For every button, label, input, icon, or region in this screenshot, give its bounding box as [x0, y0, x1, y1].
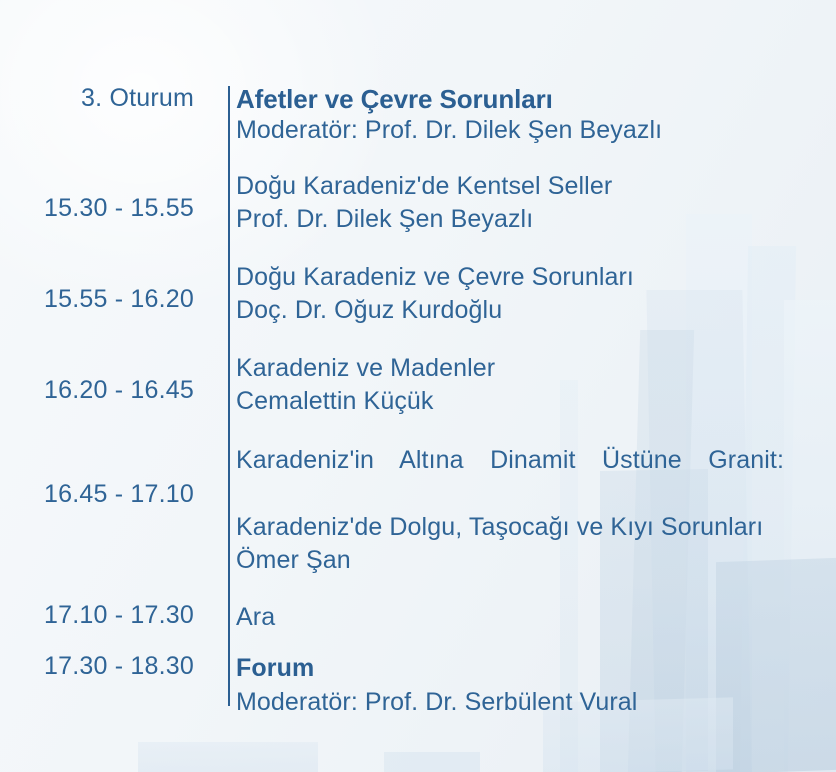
row-body: Doğu Karadeniz'de Kentsel Seller Prof. D… [212, 170, 836, 237]
row-body: Doğu Karadeniz ve Çevre Sorunları Doç. D… [212, 261, 836, 328]
session-header-body: Afetler ve Çevre Sorunları Moderatör: Pr… [212, 84, 836, 148]
schedule-row-break: 17.10 - 17.30 Ara [0, 601, 836, 635]
row-time: 17.10 - 17.30 [0, 601, 212, 630]
talk-title: Doğu Karadeniz ve Çevre Sorunları [236, 261, 836, 295]
row-time: 15.30 - 15.55 [0, 170, 212, 223]
forum-title: Forum [236, 652, 836, 686]
forum-moderator: Moderatör: Prof. Dr. Serbülent Vural [236, 686, 836, 720]
schedule-row: 15.30 - 15.55 Doğu Karadeniz'de Kentsel … [0, 170, 836, 237]
break-label: Ara [236, 601, 836, 635]
schedule-row: 16.20 - 16.45 Karadeniz ve Madenler Cema… [0, 352, 836, 419]
talk-speaker: Prof. Dr. Dilek Şen Beyazlı [236, 203, 836, 237]
schedule-rows: 3. Oturum Afetler ve Çevre Sorunları Mod… [0, 84, 836, 719]
row-body: Karadeniz'in Altına Dinamit Üstüne Grani… [212, 444, 836, 578]
session-header-row: 3. Oturum Afetler ve Çevre Sorunları Mod… [0, 84, 836, 148]
schedule-row: 15.55 - 16.20 Doğu Karadeniz ve Çevre So… [0, 261, 836, 328]
talk-title-line-2: Karadeniz'de Dolgu, Taşocağı ve Kıyı Sor… [236, 511, 836, 545]
talk-title: Doğu Karadeniz'de Kentsel Seller [236, 170, 836, 204]
talk-speaker: Doç. Dr. Oğuz Kurdoğlu [236, 294, 836, 328]
talk-speaker: Ömer Şan [236, 544, 836, 578]
session-title: Afetler ve Çevre Sorunları [236, 84, 836, 114]
session-moderator: Moderatör: Prof. Dr. Dilek Şen Beyazlı [236, 114, 836, 148]
schedule-row-forum: 17.30 - 18.30 Forum Moderatör: Prof. Dr.… [0, 652, 836, 719]
row-body: Ara [212, 601, 836, 635]
talk-speaker: Cemalettin Küçük [236, 385, 836, 419]
session-label: 3. Oturum [0, 84, 212, 113]
row-time: 17.30 - 18.30 [0, 652, 212, 681]
row-body: Forum Moderatör: Prof. Dr. Serbülent Vur… [212, 652, 836, 719]
schedule-row: 16.45 - 17.10 Karadeniz'in Altına Dinami… [0, 444, 836, 578]
row-time: 15.55 - 16.20 [0, 261, 212, 314]
row-time: 16.20 - 16.45 [0, 352, 212, 405]
row-time: 16.45 - 17.10 [0, 444, 212, 509]
schedule-table: 3. Oturum Afetler ve Çevre Sorunları Mod… [0, 0, 836, 772]
row-body: Karadeniz ve Madenler Cemalettin Küçük [212, 352, 836, 419]
program-slide: 3. Oturum Afetler ve Çevre Sorunları Mod… [0, 0, 836, 772]
talk-title: Karadeniz ve Madenler [236, 352, 836, 386]
talk-title-line-1: Karadeniz'in Altına Dinamit Üstüne Grani… [236, 444, 784, 511]
